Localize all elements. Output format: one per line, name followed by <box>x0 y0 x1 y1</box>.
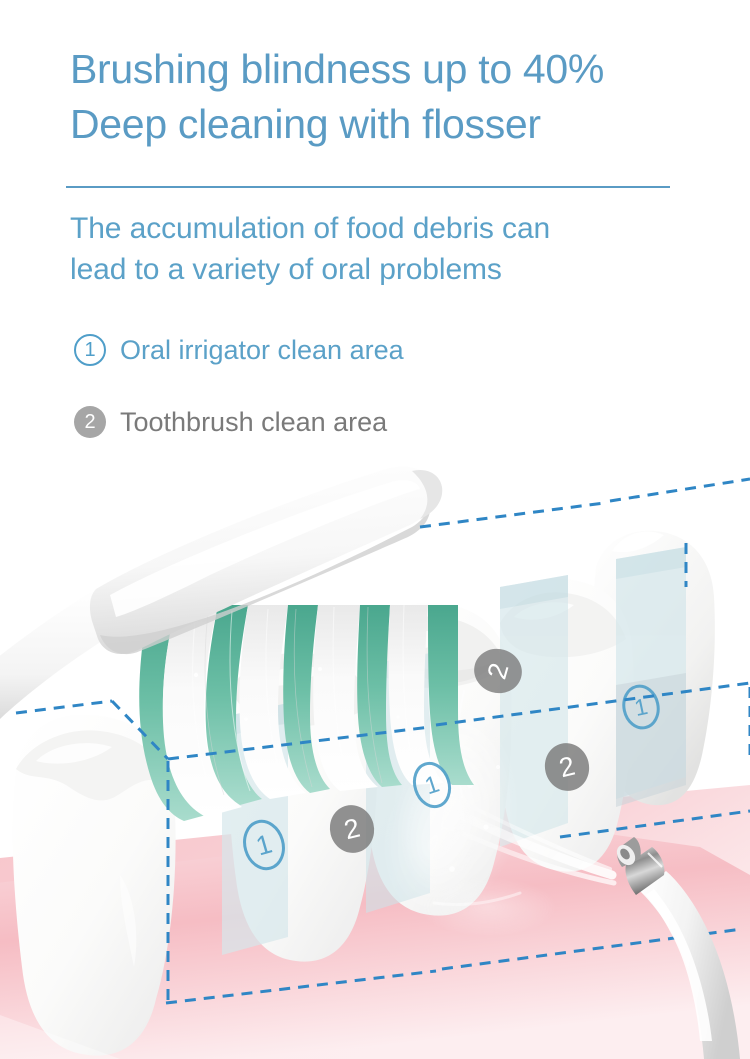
product-feature-banner: Brushing blindness up to 40% Deep cleani… <box>0 0 750 1059</box>
illustration-toothbrush-flosser-teeth: 1 2 1 2 <box>0 455 750 1059</box>
divider <box>66 186 670 188</box>
badge-number-2-icon: 2 <box>74 406 106 438</box>
subtitle: The accumulation of food debris can lead… <box>70 208 710 291</box>
subtitle-line-1: The accumulation of food debris can <box>70 208 710 249</box>
water-splash-gum <box>418 877 558 937</box>
headline-line-1: Brushing blindness up to 40% <box>70 42 730 97</box>
legend-label-toothbrush: Toothbrush clean area <box>120 409 387 436</box>
legend-label-oral-irrigator: Oral irrigator clean area <box>120 337 404 364</box>
text-content-block: Brushing blindness up to 40% Deep cleani… <box>0 0 750 470</box>
badge-number-1-icon: 1 <box>74 334 106 366</box>
legend-item-oral-irrigator: 1 Oral irrigator clean area <box>74 328 714 372</box>
subtitle-line-2: lead to a variety of oral problems <box>70 249 710 290</box>
legend: 1 Oral irrigator clean area 2 Toothbrush… <box>74 328 714 472</box>
headline-line-2: Deep cleaning with flosser <box>70 97 730 152</box>
page-title: Brushing blindness up to 40% Deep cleani… <box>70 42 730 151</box>
legend-item-toothbrush: 2 Toothbrush clean area <box>74 400 714 444</box>
